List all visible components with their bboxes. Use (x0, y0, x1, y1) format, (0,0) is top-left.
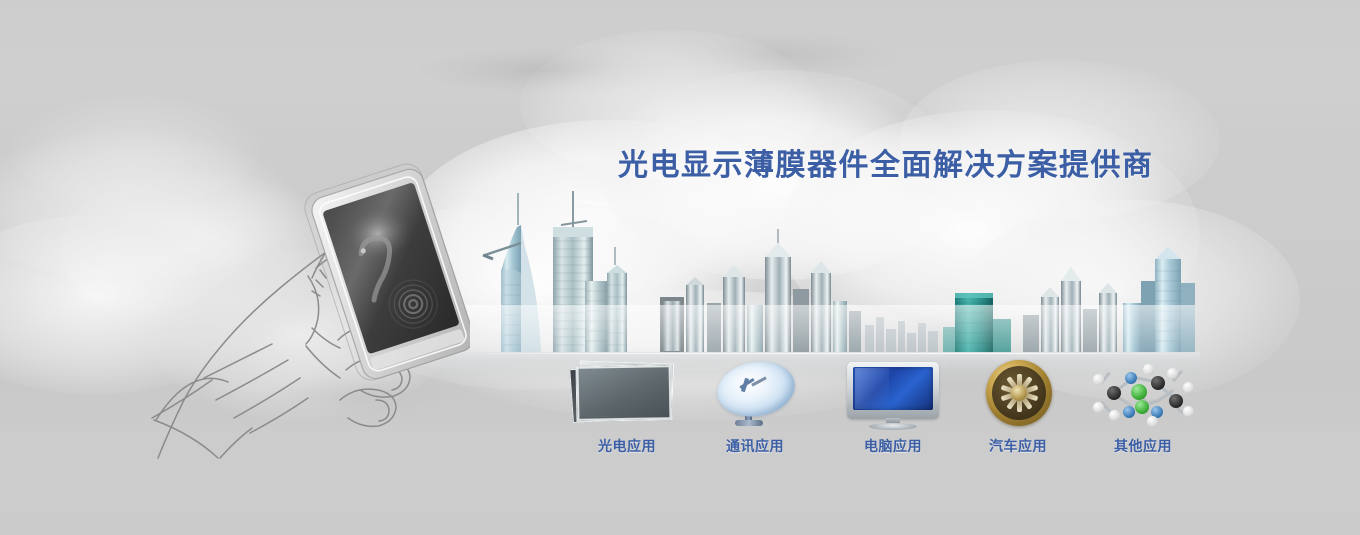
horizon-line (455, 353, 1190, 354)
category-label: 汽车应用 (958, 436, 1078, 456)
city-skyline-silhouette (455, 185, 1195, 360)
promo-banner: 光电显示薄膜器件全面解决方案提供商 光电应用 通讯应用 电脑应用 (0, 0, 1360, 535)
monitor-icon (833, 358, 953, 428)
category-label: 电脑应用 (833, 436, 953, 456)
molecule-icon (1083, 358, 1203, 428)
category-item-automotive[interactable]: 汽车应用 (958, 358, 1078, 456)
category-label: 其他应用 (1083, 436, 1203, 456)
category-item-optoelectronic[interactable]: 光电应用 (567, 358, 687, 456)
page-title: 光电显示薄膜器件全面解决方案提供商 (618, 140, 1154, 184)
haze-top (0, 0, 1360, 120)
glass-panel-stack-icon (567, 358, 687, 428)
hand-holding-smartphone-sketch (140, 128, 470, 473)
category-item-other[interactable]: 其他应用 (1083, 358, 1203, 456)
category-label: 光电应用 (567, 436, 687, 456)
category-item-computer[interactable]: 电脑应用 (833, 358, 953, 456)
satellite-dish-icon (695, 358, 815, 428)
category-item-communication[interactable]: 通讯应用 (695, 358, 815, 456)
category-label: 通讯应用 (695, 436, 815, 456)
car-wheel-icon (958, 358, 1078, 428)
